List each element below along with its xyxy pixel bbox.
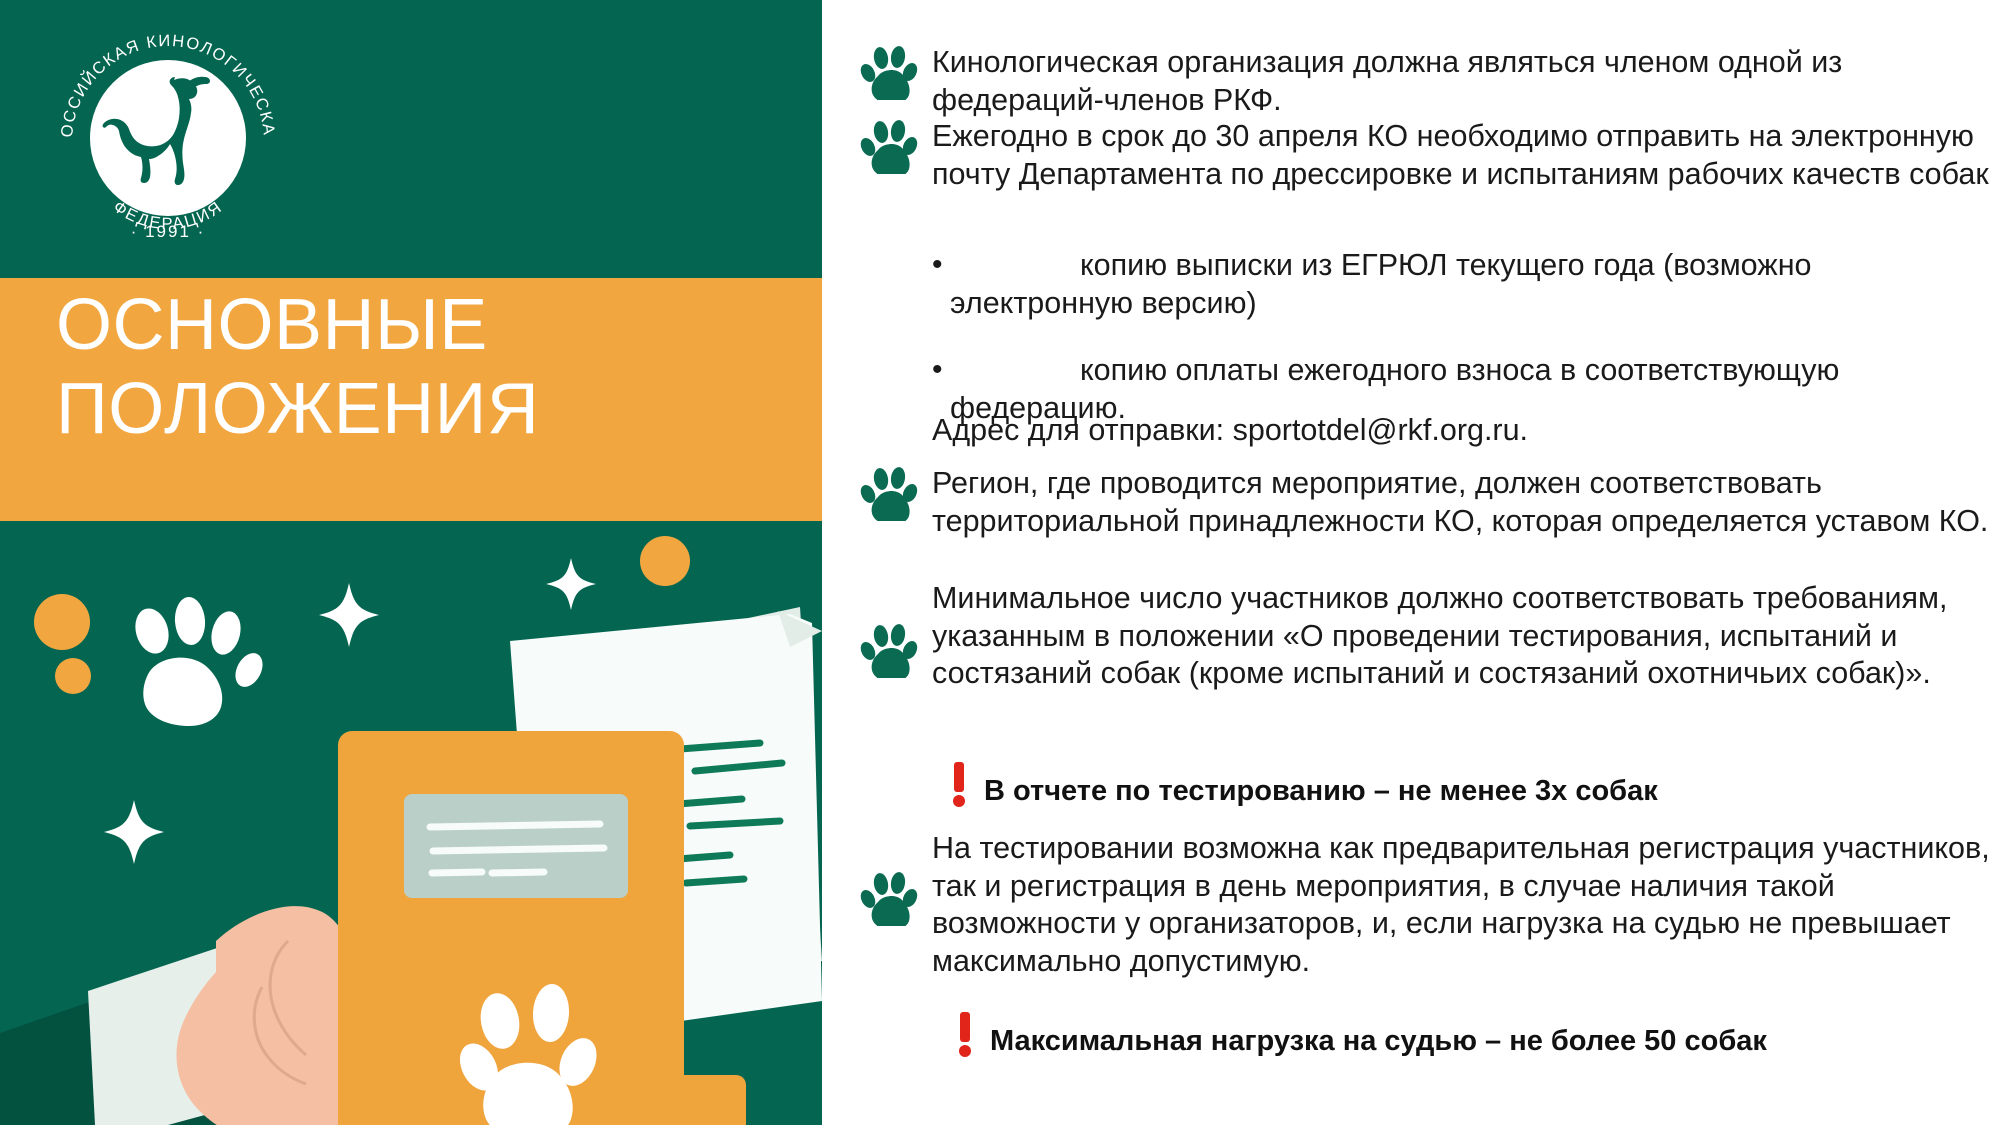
paw-icon: [860, 622, 918, 678]
exclamation-icon: [948, 762, 978, 808]
list-item-text: Кинологическая организация должна являть…: [932, 44, 2000, 119]
page-title-line-2: ПОЛОЖЕНИЯ: [56, 368, 816, 452]
list-item-text: Минимальное число участников должно соот…: [932, 580, 2000, 693]
slide-root: РОССИЙСКАЯ КИНОЛОГИЧЕСКАЯ ФЕДЕРАЦИЯ · 19…: [0, 0, 2000, 1125]
folder-label: [404, 794, 628, 898]
rkf-logo: РОССИЙСКАЯ КИНОЛОГИЧЕСКАЯ ФЕДЕРАЦИЯ · 19…: [45, 12, 290, 257]
bullet-text: копию выписки из ЕГРЮЛ текущего года (во…: [950, 247, 2000, 322]
list-item-text: Ежегодно в срок до 30 апреля КО необходи…: [932, 118, 2000, 193]
content-panel: Кинологическая организация должна являть…: [860, 0, 2000, 1125]
alert-text: В отчете по тестированию – не менее 3х с…: [984, 775, 1658, 808]
alert-text: Максимальная нагрузка на судью – не боле…: [990, 1025, 1767, 1058]
orange-dot-large: [34, 594, 90, 650]
list-item: Минимальное число участников должно соот…: [860, 580, 2000, 693]
list-item: Регион, где проводится мероприятие, долж…: [860, 465, 2000, 540]
orange-dot-top: [640, 536, 690, 586]
paw-icon: [860, 44, 918, 100]
paw-icon: [860, 118, 918, 174]
address-text: Адрес для отправки: sportotdel@rkf.org.r…: [932, 412, 1528, 450]
exclamation-icon: [954, 1012, 984, 1058]
paw-icon: [860, 870, 918, 926]
list-item: На тестировании возможна как предварител…: [860, 830, 2000, 980]
bullet-marker: •: [932, 247, 950, 284]
alert-callout: Максимальная нагрузка на судью – не боле…: [954, 1012, 1767, 1058]
list-item: Ежегодно в срок до 30 апреля КО необходи…: [860, 118, 2000, 193]
list-item: • копию выписки из ЕГРЮЛ текущего года (…: [932, 247, 2000, 322]
alert-callout: В отчете по тестированию – не менее 3х с…: [948, 762, 1658, 808]
list-item-text: На тестировании возможна как предварител…: [932, 830, 2000, 980]
paw-icon: [860, 465, 918, 521]
svg-text:· 1991 ·: · 1991 ·: [131, 222, 206, 241]
page-title: ОСНОВНЫЕ ПОЛОЖЕНИЯ: [56, 284, 816, 451]
list-item-text: Регион, где проводится мероприятие, долж…: [932, 465, 2000, 540]
page-title-line-1: ОСНОВНЫЕ: [56, 284, 816, 368]
hand-holding-folder-illustration: [0, 521, 822, 1125]
orange-dot-small: [55, 658, 91, 694]
address-row: Адрес для отправки: sportotdel@rkf.org.r…: [860, 412, 2000, 450]
left-panel: РОССИЙСКАЯ КИНОЛОГИЧЕСКАЯ ФЕДЕРАЦИЯ · 19…: [0, 0, 822, 1125]
list-item: Кинологическая организация должна являть…: [860, 44, 2000, 119]
bullet-group: • копию выписки из ЕГРЮЛ текущего года (…: [860, 247, 2000, 427]
bullet-marker: •: [932, 352, 950, 389]
